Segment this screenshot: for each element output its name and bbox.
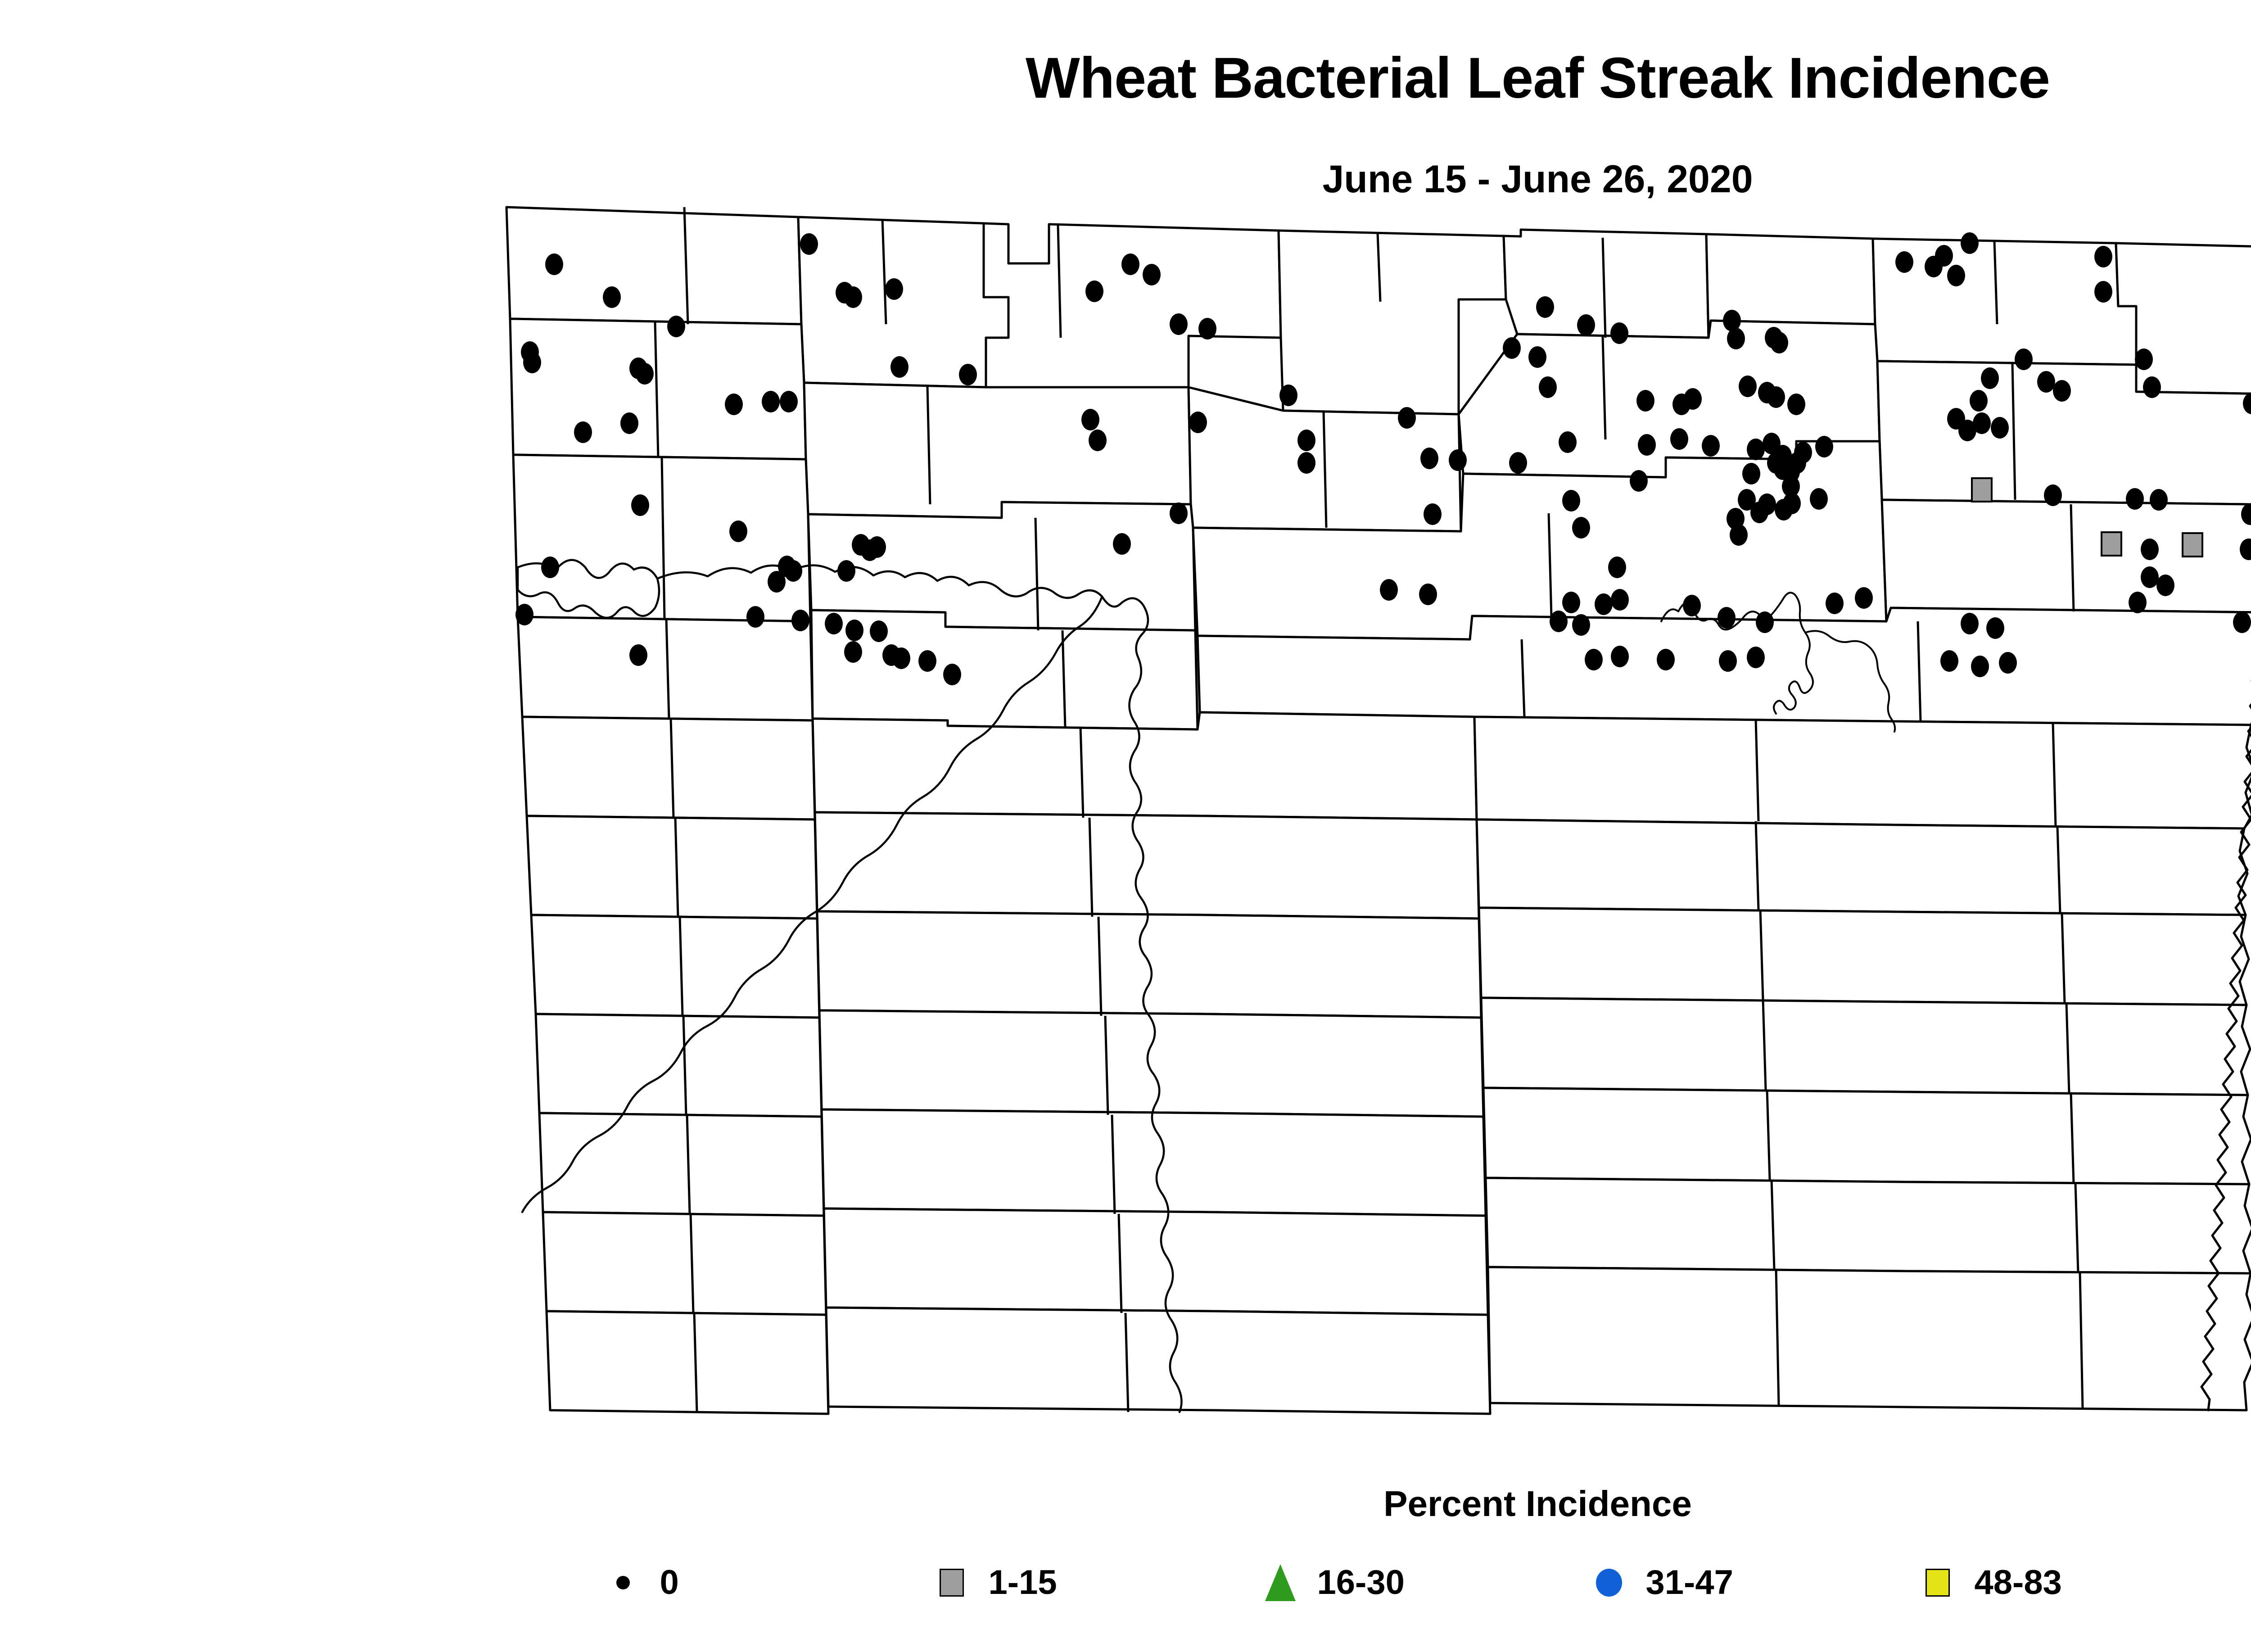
incidence-marker (1297, 452, 1315, 474)
incidence-marker (1961, 613, 1979, 634)
legend-item-1[interactable]: 1-15 (881, 1561, 1209, 1604)
incidence-marker (746, 606, 764, 628)
incidence-marker (1608, 557, 1626, 578)
incidence-marker (1509, 452, 1527, 474)
incidence-marker (837, 560, 855, 582)
county (826, 1308, 1490, 1414)
county (1488, 1267, 2251, 1410)
legend-label-2: 16-30 (1317, 1566, 1405, 1600)
legend: 0 1-15 16-30 31-47 48-83 84-100 (0, 1549, 2251, 1616)
incidence-marker (1981, 367, 1999, 389)
county (804, 383, 1191, 518)
county (1474, 717, 2251, 828)
county (984, 223, 1281, 387)
incidence-marker (1636, 390, 1654, 412)
incidence-marker (1143, 264, 1161, 285)
incidence-marker (780, 391, 798, 412)
incidence-marker (729, 520, 747, 542)
incidence-marker (1739, 376, 1757, 397)
incidence-marker (1747, 647, 1765, 668)
county (547, 1311, 828, 1414)
incidence-marker (2156, 575, 2174, 596)
incidence-marker (1999, 652, 2017, 674)
incidence-marker (800, 233, 818, 255)
legend-item-4[interactable]: 48-83 (1867, 1561, 2195, 1604)
gray-square-icon (930, 1561, 973, 1604)
incidence-marker (2141, 566, 2159, 588)
incidence-marker (1559, 431, 1577, 453)
incidence-marker (1638, 434, 1656, 456)
incidence-marker (943, 664, 961, 685)
incidence-marker (1380, 579, 1398, 601)
incidence-marker (1670, 428, 1688, 450)
county (522, 717, 815, 819)
incidence-marker (892, 647, 910, 669)
incidence-marker (1279, 385, 1297, 406)
incidence-marker (636, 363, 654, 385)
incidence-marker (1595, 593, 1613, 615)
incidence-marker (1935, 245, 1953, 267)
incidence-marker (1770, 332, 1788, 353)
incidence-marker (1991, 417, 2009, 439)
incidence-marker (1089, 430, 1107, 451)
incidence-marker (620, 412, 638, 434)
incidence-marker (845, 620, 863, 641)
incidence-marker (1747, 439, 1765, 460)
incidence-marker (2053, 380, 2071, 402)
incidence-marker (1611, 646, 1629, 667)
incidence-marker (1585, 649, 1603, 670)
incidence-marker (784, 560, 802, 582)
incidence-marker (1577, 314, 1595, 336)
incidence-marker (1947, 265, 1965, 286)
incidence-marker (844, 286, 862, 308)
page-title: Wheat Bacterial Leaf Streak Incidence (0, 50, 2251, 107)
green-triangle-icon (1259, 1561, 1302, 1604)
incidence-marker (523, 352, 541, 373)
incidence-marker (2135, 349, 2153, 370)
incidence-marker (1815, 436, 1833, 457)
incidence-marker (1750, 502, 1768, 523)
incidence-marker (1630, 470, 1648, 492)
incidence-marker (2129, 592, 2147, 613)
legend-item-0[interactable]: 0 (552, 1561, 881, 1604)
map-page: Wheat Bacterial Leaf Streak Incidence Ju… (0, 0, 2251, 1652)
red-triangle-icon (2245, 1561, 2251, 1604)
incidence-marker (1970, 390, 1988, 412)
incidence-marker (2126, 488, 2144, 510)
county (819, 1010, 1483, 1117)
incidence-marker (1528, 346, 1546, 368)
incidence-marker (1170, 313, 1188, 335)
incidence-marker (2183, 533, 2202, 557)
incidence-marker (1810, 488, 1828, 510)
incidence-marker (1730, 524, 1748, 546)
incidence-marker (1420, 448, 1438, 469)
incidence-marker (762, 391, 780, 412)
incidence-marker (1449, 449, 1467, 471)
incidence-marker (725, 394, 743, 415)
incidence-marker (1610, 322, 1628, 344)
incidence-marker (1562, 490, 1580, 511)
legend-item-5[interactable]: 84-100 (2195, 1561, 2251, 1604)
county (543, 1212, 826, 1315)
incidence-marker (868, 536, 886, 558)
legend-label-3: 31-47 (1646, 1566, 1733, 1600)
incidence-marker (1756, 611, 1774, 633)
incidence-marker (1826, 593, 1844, 614)
county (518, 617, 813, 720)
incidence-marker (768, 571, 786, 593)
incidence-marker (1503, 337, 1521, 359)
incidence-marker (1986, 617, 2004, 639)
yellow-square-icon (1916, 1561, 1959, 1604)
incidence-marker (1419, 584, 1437, 605)
incidence-marker (1958, 420, 1976, 441)
incidence-marker (629, 644, 647, 666)
incidence-marker (1198, 318, 1216, 339)
incidence-marker (1113, 533, 1131, 555)
incidence-marker (1657, 649, 1675, 670)
incidence-marker (667, 316, 685, 337)
incidence-marker (2094, 246, 2112, 267)
incidence-marker (1971, 656, 1989, 677)
county (539, 1113, 824, 1216)
incidence-marker (1775, 499, 1793, 520)
incidence-marker (1972, 478, 1992, 502)
county (536, 1014, 822, 1117)
incidence-marker (959, 364, 977, 385)
incidence-marker (1895, 251, 1913, 273)
county (824, 1208, 1488, 1315)
incidence-marker (1742, 463, 1760, 484)
legend-title: Percent Incidence (0, 1486, 2251, 1522)
incidence-marker (1085, 281, 1103, 302)
incidence-marker (1539, 376, 1557, 398)
incidence-marker (1727, 328, 1745, 349)
incidence-marker (1787, 394, 1805, 415)
incidence-marker (1562, 592, 1580, 613)
incidence-marker (1189, 412, 1207, 433)
county (531, 915, 819, 1018)
incidence-marker (918, 650, 936, 672)
county (815, 812, 1479, 919)
incidence-marker (1550, 611, 1568, 632)
incidence-marker (1855, 587, 1873, 609)
incidence-marker (844, 641, 862, 663)
county (1477, 819, 2247, 915)
county (1486, 1178, 2251, 1273)
incidence-marker (603, 286, 621, 308)
incidence-marker (1398, 407, 1416, 429)
incidence-marker (1940, 650, 1958, 672)
incidence-marker (885, 278, 903, 300)
incidence-marker (541, 557, 559, 578)
incidence-marker (1684, 388, 1702, 410)
incidence-marker (1536, 296, 1554, 318)
incidence-marker (2233, 611, 2251, 633)
incidence-marker (2150, 489, 2168, 511)
legend-label-0: 0 (660, 1566, 679, 1600)
incidence-marker (1719, 650, 1737, 672)
incidence-marker (825, 613, 843, 634)
incidence-marker (2015, 349, 2033, 370)
incidence-marker (2094, 281, 2112, 303)
county (1481, 998, 2250, 1095)
incidence-marker (545, 253, 563, 275)
legend-item-3[interactable]: 31-47 (1538, 1561, 1867, 1604)
incidence-marker (1121, 253, 1139, 275)
incidence-marker (631, 494, 649, 516)
incidence-marker (2141, 539, 2159, 560)
incidence-marker (574, 421, 592, 443)
incidence-marker (2044, 484, 2062, 506)
incidence-marker (1297, 430, 1315, 451)
county (527, 816, 817, 919)
incidence-marker (1572, 614, 1590, 636)
county (1882, 500, 2251, 621)
county (1279, 231, 1506, 414)
incidence-marker (1961, 232, 1979, 254)
incidence-marker (1424, 503, 1442, 525)
incidence-marker (791, 610, 809, 631)
black-dot-icon (601, 1561, 645, 1604)
incidence-marker (1081, 409, 1099, 430)
county (1479, 908, 2249, 1005)
county (1483, 1088, 2251, 1184)
incidence-marker (2143, 376, 2161, 398)
legend-item-2[interactable]: 16-30 (1209, 1561, 1538, 1604)
incidence-marker (1702, 435, 1720, 457)
incidence-marker (890, 356, 909, 378)
map-canvas (0, 189, 2251, 1463)
incidence-marker (515, 604, 533, 625)
incidence-marker (1170, 502, 1188, 524)
incidence-marker (1718, 607, 1736, 629)
incidence-marker (1683, 595, 1701, 616)
incidence-marker (1611, 589, 1629, 611)
legend-label-1: 1-15 (989, 1566, 1057, 1600)
incidence-marker (2037, 371, 2055, 393)
incidence-marker (870, 620, 888, 642)
legend-label-4: 48-83 (1975, 1566, 2062, 1600)
north-dakota-county-map (0, 189, 2251, 1463)
incidence-marker (1572, 517, 1590, 539)
incidence-marker (2102, 532, 2121, 556)
blue-circle-icon (1587, 1561, 1631, 1604)
incidence-marker (1767, 386, 1785, 408)
